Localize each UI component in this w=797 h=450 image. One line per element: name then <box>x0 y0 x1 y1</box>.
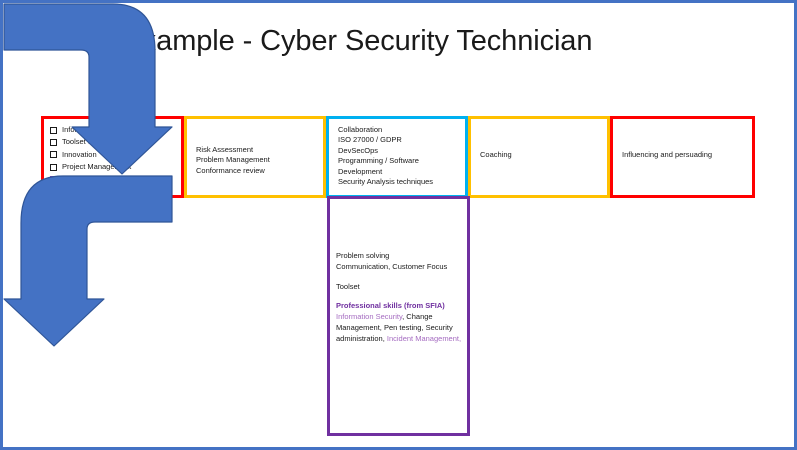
sfia-skill-incident-management: Incident Management, <box>387 334 461 343</box>
influence-box[interactable]: Influencing and persuading <box>610 116 755 198</box>
risk-box[interactable]: Risk Assessment Problem Management Confo… <box>184 116 326 198</box>
sfia-heading: Professional skills (from SFIA) <box>336 301 463 312</box>
slide-canvas: Worked example - Cyber Security Technici… <box>0 0 797 450</box>
coaching-box-text: Coaching <box>480 150 512 160</box>
risk-box-text: Risk Assessment Problem Management Confo… <box>196 145 270 176</box>
core-skills-box[interactable]: Problem solving Communication, Customer … <box>327 196 470 436</box>
core-line-3: Toolset <box>336 282 463 293</box>
technical-box[interactable]: Collaboration ISO 27000 / GDPR DevSecOps… <box>326 116 468 198</box>
technical-box-text: Collaboration ISO 27000 / GDPR DevSecOps… <box>338 125 433 187</box>
core-skills-text: Problem solving Communication, Customer … <box>336 251 463 345</box>
influence-box-text: Influencing and persuading <box>622 150 712 160</box>
spacer <box>336 292 463 301</box>
core-line-2: Communication, Customer Focus <box>336 262 463 273</box>
bent-arrow-left-down-icon <box>3 175 173 347</box>
bent-arrow-right-down-icon <box>3 3 173 175</box>
left-arrow <box>3 3 173 175</box>
sfia-skill-list: Information Security, Change Management,… <box>336 312 463 344</box>
spacer <box>336 273 463 282</box>
core-line-1: Problem solving <box>336 251 463 262</box>
sfia-skill-info-security: Information Security <box>336 312 402 321</box>
right-arrow <box>3 175 173 347</box>
coaching-box[interactable]: Coaching <box>468 116 610 198</box>
